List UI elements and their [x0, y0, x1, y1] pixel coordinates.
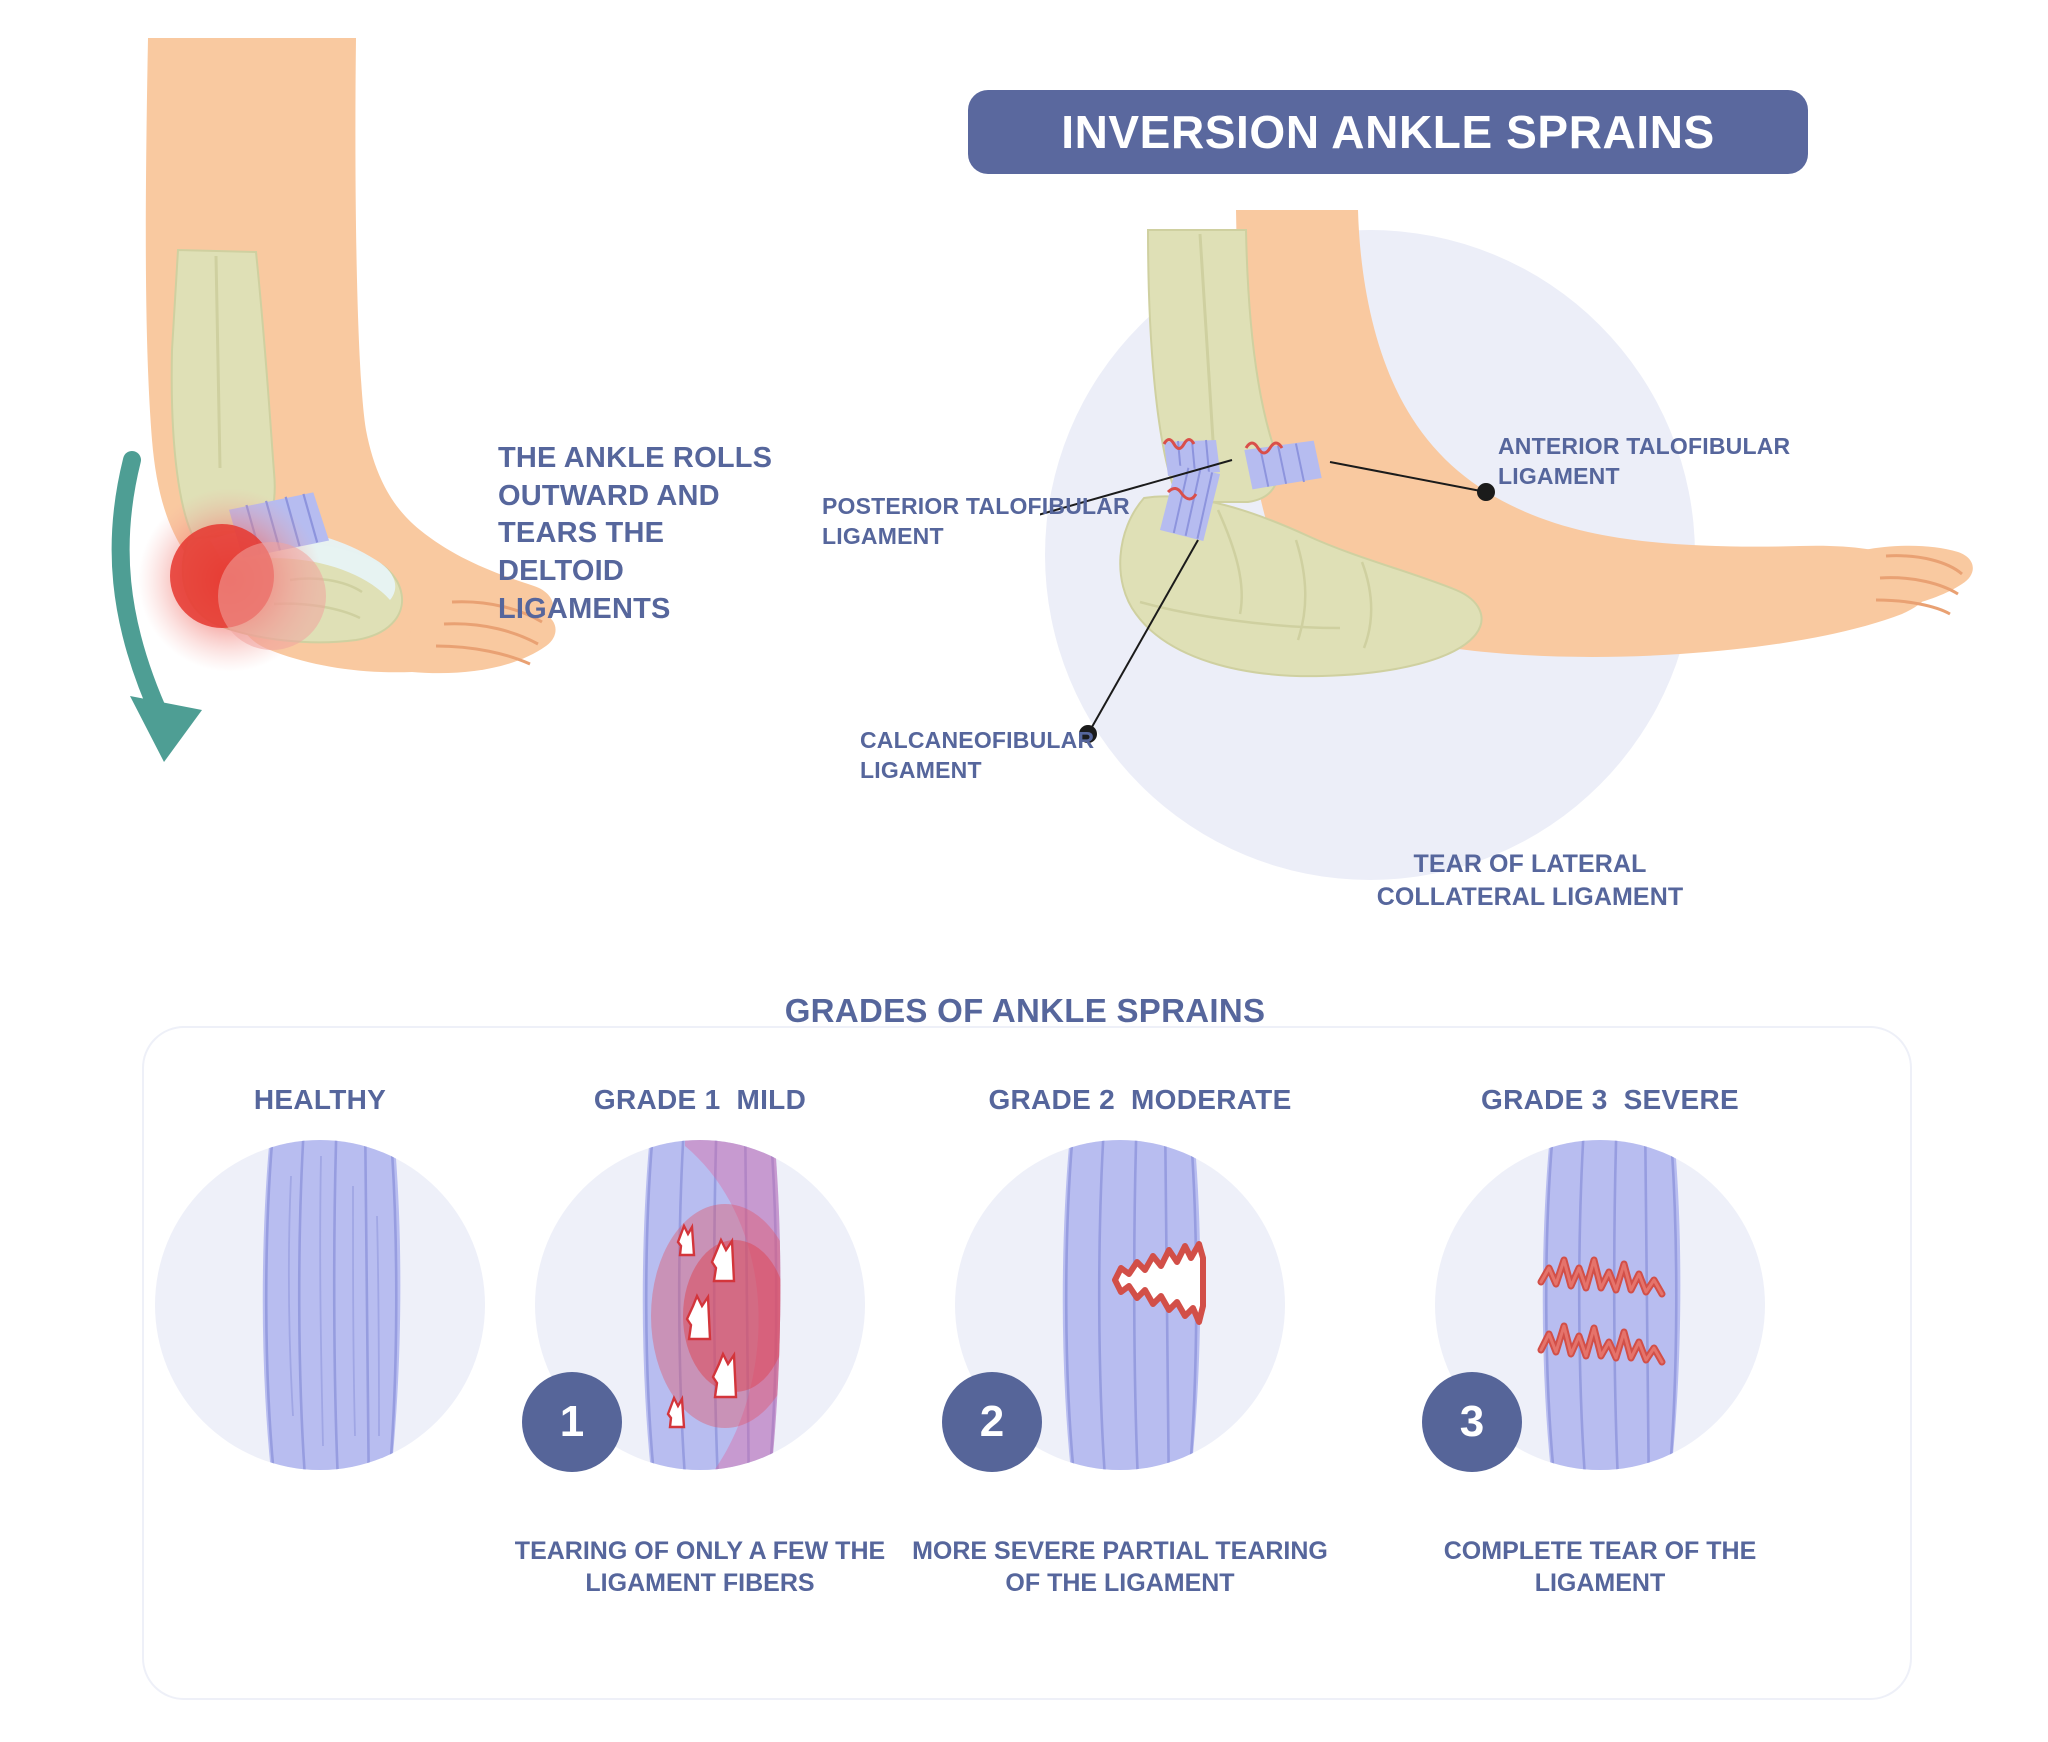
label-anterior-talofibular-ligament: ANTERIOR TALOFIBULAR LIGAMENT — [1498, 432, 1818, 492]
grade-column-grade-1: 1 TEARING OF ONLY A FEW THE LIGAMENT FIB… — [500, 1140, 900, 1610]
grade-heading-grade-2: GRADE 2MODERATE — [920, 1084, 1360, 1116]
grade-heading-sub: SEVERE — [1624, 1084, 1739, 1115]
grade-caption-3: COMPLETE TEAR OF THE LIGAMENT — [1380, 1535, 1820, 1599]
grade-heading-main: GRADE 3 — [1481, 1084, 1608, 1115]
label-tear-of-lateral-collateral-ligament: TEAR OF LATERAL COLLATERAL LIGAMENT — [1330, 848, 1730, 913]
grade-column-grade-2: 2 MORE SEVERE PARTIAL TEARING OF THE LIG… — [920, 1140, 1320, 1610]
grade-heading-main: HEALTHY — [254, 1084, 386, 1115]
grade-badge-1: 1 — [522, 1372, 622, 1472]
grade-heading-main: GRADE 1 — [594, 1084, 721, 1115]
grade-heading-sub: MODERATE — [1131, 1084, 1292, 1115]
grade-badge-3: 3 — [1422, 1372, 1522, 1472]
grade-heading-grade-1: GRADE 1MILD — [500, 1084, 900, 1116]
grade-caption-2: MORE SEVERE PARTIAL TEARING OF THE LIGAM… — [900, 1535, 1340, 1599]
grade-column-healthy — [120, 1140, 520, 1610]
left-callout-text: THE ANKLE ROLLS OUTWARD AND TEARS THE DE… — [498, 440, 798, 628]
grade-caption-1: TEARING OF ONLY A FEW THE LIGAMENT FIBER… — [480, 1535, 920, 1599]
grade-heading-healthy: HEALTHY — [120, 1084, 520, 1116]
grades-section-title: GRADES OF ANKLE SPRAINS — [142, 992, 1908, 1030]
grade-heading-main: GRADE 2 — [988, 1084, 1115, 1115]
grade-heading-grade-3: GRADE 3SEVERE — [1400, 1084, 1820, 1116]
grade-badge-2: 2 — [942, 1372, 1042, 1472]
grade-column-grade-3: 3 COMPLETE TEAR OF THE LIGAMENT — [1400, 1140, 1800, 1610]
label-calcaneofibular-ligament: CALCANEOFIBULAR LIGAMENT — [860, 726, 1160, 786]
page-title-banner: INVERSION ANKLE SPRAINS — [968, 90, 1808, 174]
ligament-illustration-healthy — [155, 1116, 485, 1494]
pain-glow-secondary — [218, 542, 326, 650]
grade-heading-sub: MILD — [736, 1084, 806, 1115]
right-ankle-illustration — [1040, 210, 2000, 910]
label-posterior-talofibular-ligament: POSTERIOR TALOFIBULAR LIGAMENT — [822, 492, 1152, 552]
page-title: INVERSION ANKLE SPRAINS — [1061, 105, 1715, 159]
